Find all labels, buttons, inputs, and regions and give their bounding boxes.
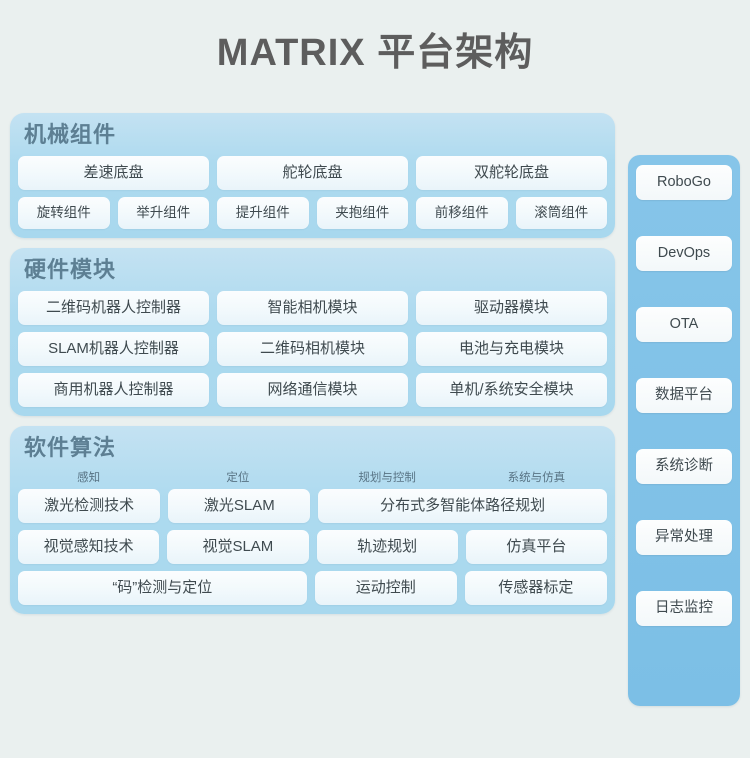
card-item[interactable]: 双舵轮底盘	[416, 156, 607, 190]
card-row: 激光检测技术 激光SLAM 分布式多智能体路径规划	[18, 489, 607, 523]
card-item[interactable]: SLAM机器人控制器	[18, 332, 209, 366]
section-hardware: 硬件模块 二维码机器人控制器 智能相机模块 驱动器模块 SLAM机器人控制器 二…	[10, 248, 615, 416]
card-item[interactable]: 仿真平台	[466, 530, 607, 564]
card-item[interactable]: 二维码相机模块	[217, 332, 408, 366]
sidebar-item-robogo[interactable]: RoboGo	[636, 165, 732, 200]
sidebar-item-exception-handling[interactable]: 异常处理	[636, 520, 732, 555]
section-header: 硬件模块	[10, 248, 615, 291]
card-item[interactable]: 商用机器人控制器	[18, 373, 209, 407]
sidebar-item-system-diagnostics[interactable]: 系统诊断	[636, 449, 732, 484]
card-item[interactable]: 激光检测技术	[18, 489, 160, 523]
card-item[interactable]: 差速底盘	[18, 156, 209, 190]
section-rows: 差速底盘 舵轮底盘 双舵轮底盘 旋转组件 举升组件 提升组件 夹抱组件 前移组件…	[10, 156, 615, 229]
card-item[interactable]: 旋转组件	[18, 197, 110, 229]
sidebar-item-data-platform[interactable]: 数据平台	[636, 378, 732, 413]
section-title: 硬件模块	[10, 248, 116, 291]
section-header: 机械组件	[10, 113, 615, 156]
card-row: 差速底盘 舵轮底盘 双舵轮底盘	[18, 156, 607, 190]
card-item[interactable]: 举升组件	[118, 197, 210, 229]
card-item[interactable]: 视觉感知技术	[18, 530, 159, 564]
column-header-system-simulation: 系统与仿真	[466, 469, 607, 487]
column-header-planning-control: 规划与控制	[317, 469, 458, 487]
card-row: 商用机器人控制器 网络通信模块 单机/系统安全模块	[18, 373, 607, 407]
card-item[interactable]: 传感器标定	[465, 571, 607, 605]
section-mechanical: 机械组件 差速底盘 舵轮底盘 双舵轮底盘 旋转组件 举升组件 提升组件 夹抱组件…	[10, 113, 615, 238]
card-item[interactable]: 网络通信模块	[217, 373, 408, 407]
card-item[interactable]: 二维码机器人控制器	[18, 291, 209, 325]
card-row: 旋转组件 举升组件 提升组件 夹抱组件 前移组件 滚筒组件	[18, 197, 607, 229]
architecture-diagram: MATRIX 平台架构 机械组件 差速底盘 舵轮底盘 双舵轮底盘 旋转组件 举升…	[0, 0, 750, 758]
section-title: 机械组件	[10, 113, 116, 156]
section-header: 软件算法	[10, 426, 615, 469]
card-item[interactable]: 驱动器模块	[416, 291, 607, 325]
card-item[interactable]: 滚筒组件	[516, 197, 608, 229]
card-row: 二维码机器人控制器 智能相机模块 驱动器模块	[18, 291, 607, 325]
section-rows: 二维码机器人控制器 智能相机模块 驱动器模块 SLAM机器人控制器 二维码相机模…	[10, 291, 615, 407]
card-row: 视觉感知技术 视觉SLAM 轨迹规划 仿真平台	[18, 530, 607, 564]
card-row: SLAM机器人控制器 二维码相机模块 电池与充电模块	[18, 332, 607, 366]
platform-services-sidebar: RoboGo DevOps OTA 数据平台 系统诊断 异常处理 日志监控	[628, 155, 740, 706]
section-title: 软件算法	[10, 426, 116, 469]
card-item[interactable]: 智能相机模块	[217, 291, 408, 325]
section-software: 软件算法 感知 定位 规划与控制 系统与仿真 激光检测技术 激光SLAM 分布式…	[10, 426, 615, 614]
section-rows: 激光检测技术 激光SLAM 分布式多智能体路径规划 视觉感知技术 视觉SLAM …	[10, 489, 615, 605]
card-item[interactable]: 电池与充电模块	[416, 332, 607, 366]
sections-column: 机械组件 差速底盘 舵轮底盘 双舵轮底盘 旋转组件 举升组件 提升组件 夹抱组件…	[10, 113, 615, 624]
card-item[interactable]: 舵轮底盘	[217, 156, 408, 190]
card-item[interactable]: 前移组件	[416, 197, 508, 229]
card-item[interactable]: “码”检测与定位	[18, 571, 307, 605]
sidebar-item-devops[interactable]: DevOps	[636, 236, 732, 271]
sidebar-item-ota[interactable]: OTA	[636, 307, 732, 342]
card-row: “码”检测与定位 运动控制 传感器标定	[18, 571, 607, 605]
column-header-localization: 定位	[167, 469, 308, 487]
card-item[interactable]: 轨迹规划	[317, 530, 458, 564]
card-item[interactable]: 视觉SLAM	[167, 530, 308, 564]
column-header-perception: 感知	[18, 469, 159, 487]
card-item[interactable]: 单机/系统安全模块	[416, 373, 607, 407]
column-headers: 感知 定位 规划与控制 系统与仿真	[10, 469, 615, 487]
card-item[interactable]: 激光SLAM	[168, 489, 310, 523]
page-title: MATRIX 平台架构	[0, 30, 750, 76]
card-item[interactable]: 夹抱组件	[317, 197, 409, 229]
card-item[interactable]: 提升组件	[217, 197, 309, 229]
card-item[interactable]: 运动控制	[315, 571, 457, 605]
card-item[interactable]: 分布式多智能体路径规划	[318, 489, 607, 523]
sidebar-item-log-monitoring[interactable]: 日志监控	[636, 591, 732, 626]
